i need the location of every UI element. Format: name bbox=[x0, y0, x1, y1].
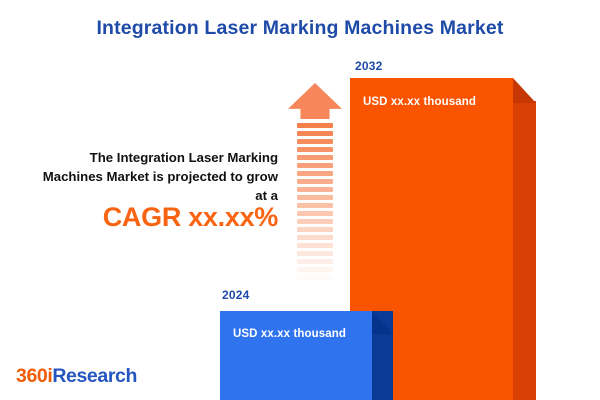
bar-2032-side-face-inner bbox=[513, 101, 536, 400]
arrow-stripe bbox=[297, 163, 333, 168]
growth-arrow-up-icon bbox=[288, 83, 342, 283]
arrow-stripes bbox=[297, 123, 333, 281]
arrow-stripe bbox=[297, 195, 333, 200]
brand-logo-360i: 360i bbox=[16, 365, 52, 387]
arrow-stripe bbox=[297, 251, 333, 256]
arrow-stripe bbox=[297, 187, 333, 192]
arrow-stripe bbox=[297, 227, 333, 232]
arrow-head-shape bbox=[288, 83, 342, 119]
bar-2032-top-bevel bbox=[513, 78, 536, 103]
arrow-stripe bbox=[297, 267, 333, 272]
arrow-stripe bbox=[297, 171, 333, 176]
market-infographic-canvas: Integration Laser Marking Machines Marke… bbox=[0, 0, 600, 400]
bar-year-label-2024: 2024 bbox=[222, 288, 250, 302]
arrow-stripe bbox=[297, 235, 333, 240]
arrow-stripe bbox=[297, 211, 333, 216]
arrow-stripe bbox=[297, 139, 333, 144]
cagr-value: CAGR xx.xx% bbox=[30, 202, 278, 233]
page-title: Integration Laser Marking Machines Marke… bbox=[0, 17, 600, 40]
arrow-stripe bbox=[297, 243, 333, 248]
brand-logo-research: Research bbox=[52, 365, 137, 387]
bar-year-label-2032: 2032 bbox=[355, 59, 383, 73]
brand-logo: 360iResearch bbox=[16, 365, 137, 388]
arrow-stripe bbox=[297, 275, 333, 280]
arrow-stripe bbox=[297, 179, 333, 184]
growth-statement-text: The Integration Laser Marking Machines M… bbox=[30, 148, 278, 205]
arrow-stripe bbox=[297, 203, 333, 208]
bar-value-label-2024: USD xx.xx thousand bbox=[233, 328, 346, 340]
bar-2024 bbox=[220, 311, 372, 400]
arrow-stripe bbox=[297, 155, 333, 160]
arrow-stripe bbox=[297, 219, 333, 224]
arrow-stripe bbox=[297, 123, 333, 128]
bar-value-label-2032: USD xx.xx thousand bbox=[363, 96, 476, 108]
arrow-stripe bbox=[297, 131, 333, 136]
arrow-stripe bbox=[297, 259, 333, 264]
arrow-stripe bbox=[297, 147, 333, 152]
